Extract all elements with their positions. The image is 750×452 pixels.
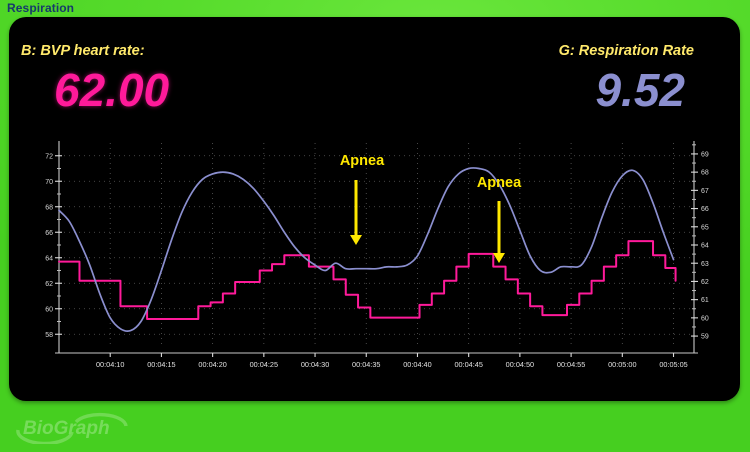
svg-text:64: 64	[701, 243, 709, 250]
chart-annotations: ApneaApnea	[340, 153, 522, 263]
svg-text:62: 62	[45, 281, 53, 288]
bvp-heart-rate-label: B: BVP heart rate:	[21, 43, 145, 59]
svg-text:00:04:20: 00:04:20	[198, 360, 226, 369]
respiration-rate-label: G: Respiration Rate	[559, 43, 694, 59]
svg-text:63: 63	[701, 261, 709, 268]
svg-text:69: 69	[701, 152, 709, 159]
svg-text:62: 62	[701, 279, 709, 286]
svg-text:BioGraph: BioGraph	[23, 418, 110, 439]
svg-text:00:04:35: 00:04:35	[352, 360, 380, 369]
svg-text:61: 61	[701, 297, 709, 304]
bvp-heart-rate-value: 62.00	[54, 67, 169, 113]
chart-gridlines	[59, 143, 694, 347]
svg-text:00:04:40: 00:04:40	[403, 360, 431, 369]
biograph-watermark: BioGraph	[14, 412, 134, 444]
svg-text:00:04:10: 00:04:10	[96, 360, 124, 369]
chart-plot-area[interactable]: 5860626466687072 5960616263646566676869 …	[29, 135, 724, 385]
svg-text:70: 70	[45, 179, 53, 186]
svg-text:00:05:00: 00:05:00	[608, 360, 636, 369]
svg-text:58: 58	[45, 332, 53, 339]
x-axis-ticks: 00:04:1000:04:1500:04:2000:04:2500:04:30…	[96, 353, 688, 369]
svg-text:00:04:50: 00:04:50	[506, 360, 534, 369]
svg-text:68: 68	[701, 170, 709, 177]
apnea-annotation-label: Apnea	[340, 153, 385, 169]
svg-text:66: 66	[701, 206, 709, 213]
respiration-rate-value: 9.52	[595, 67, 685, 113]
svg-text:60: 60	[701, 315, 709, 322]
apnea-arrow-icon	[350, 235, 362, 245]
svg-text:59: 59	[701, 334, 709, 341]
physiology-chart[interactable]: 5860626466687072 5960616263646566676869 …	[29, 135, 724, 385]
apnea-annotation-label: Apnea	[477, 175, 522, 191]
svg-text:00:04:30: 00:04:30	[301, 360, 329, 369]
svg-text:67: 67	[701, 188, 709, 195]
chart-frame	[55, 141, 698, 353]
app-root: Respiration B: BVP heart rate: 62.00 G: …	[0, 0, 750, 452]
svg-text:64: 64	[45, 255, 53, 262]
svg-text:72: 72	[45, 153, 53, 160]
instrument-panel: B: BVP heart rate: 62.00 G: Respiration …	[9, 17, 740, 401]
chart-series	[59, 168, 676, 331]
svg-text:65: 65	[701, 224, 709, 231]
window-title: Respiration	[7, 1, 74, 15]
svg-text:00:04:55: 00:04:55	[557, 360, 585, 369]
svg-text:00:04:45: 00:04:45	[454, 360, 482, 369]
svg-text:66: 66	[45, 230, 53, 237]
svg-text:00:04:25: 00:04:25	[250, 360, 278, 369]
svg-text:60: 60	[45, 306, 53, 313]
svg-text:00:05:05: 00:05:05	[659, 360, 687, 369]
svg-text:00:04:15: 00:04:15	[147, 360, 175, 369]
svg-text:68: 68	[45, 204, 53, 211]
